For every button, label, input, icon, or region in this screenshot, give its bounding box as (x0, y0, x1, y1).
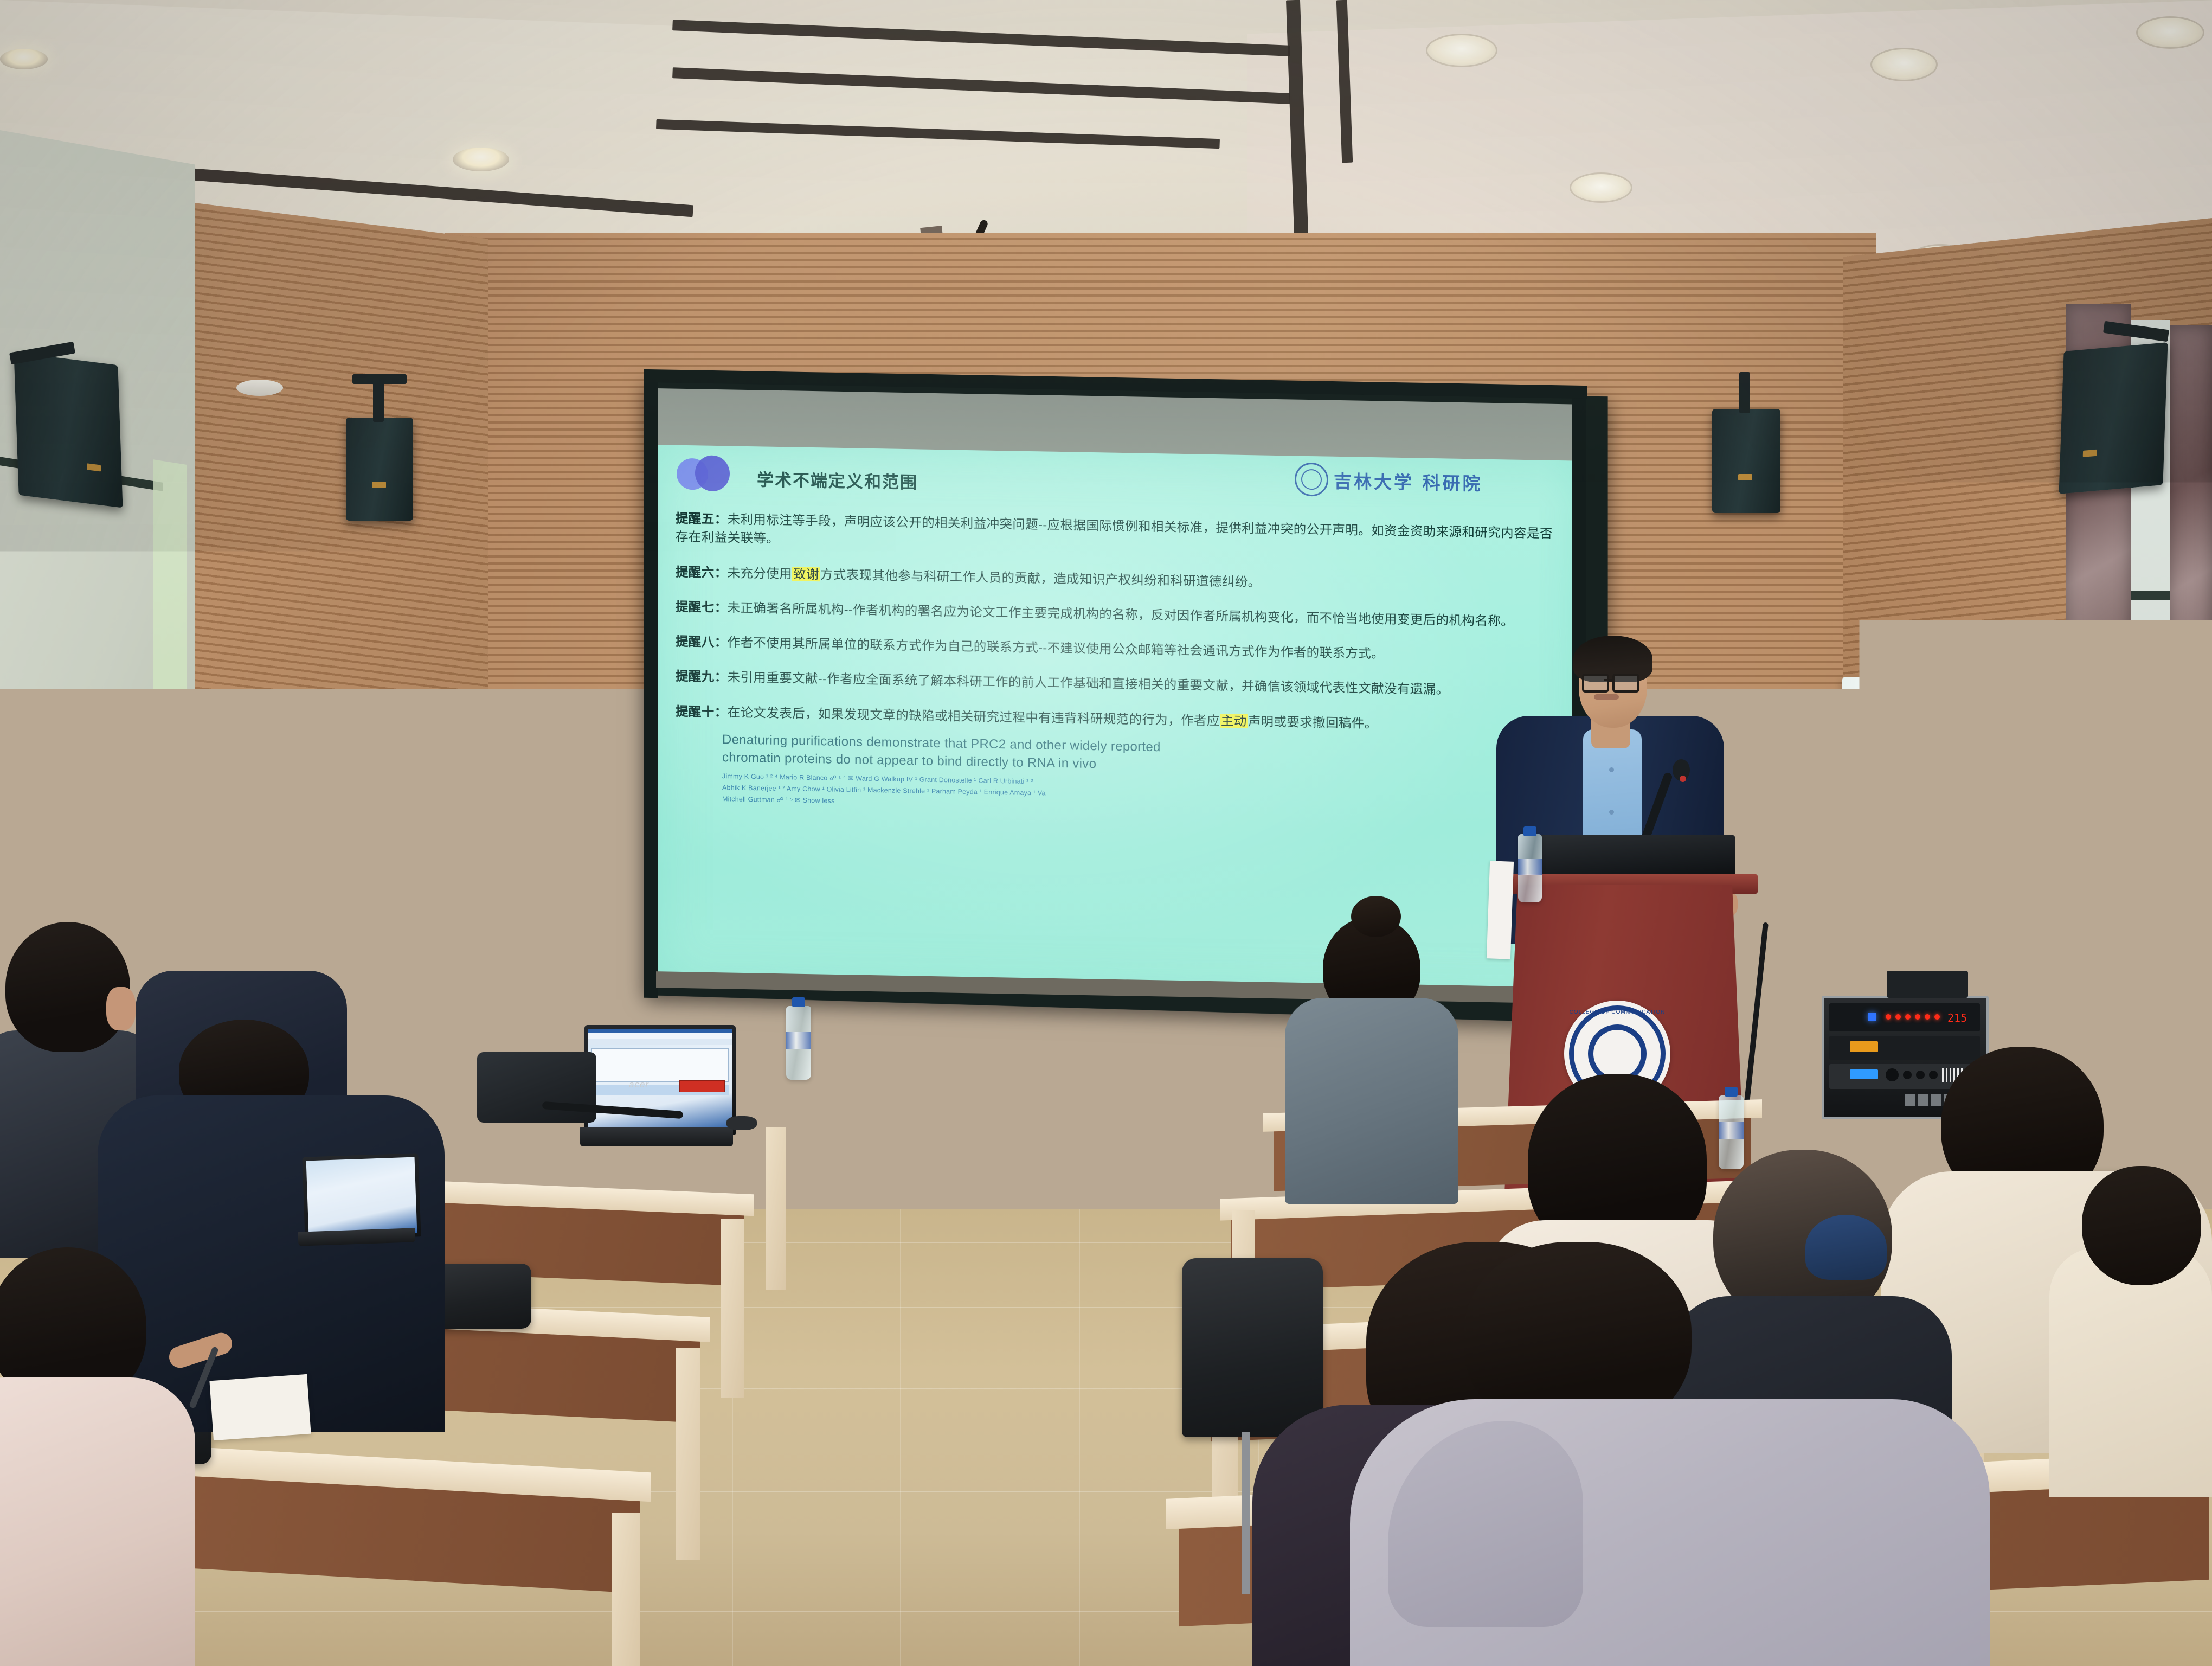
rack-unit-top[interactable]: 215 (1829, 1003, 1980, 1031)
speaker-mount-bracket (373, 380, 384, 422)
tip-text: 未利用标注等手段，声明应该公开的相关利益冲突问题--应根据国际惯例和相关标准，提… (676, 512, 1553, 546)
rack-display-value: 215 (1947, 1011, 1967, 1024)
chair (1182, 1258, 1323, 1437)
slide-paragraph-tip8: 提醒八：作者不使用其所属单位的联系方式作为自己的联系方式--不建议使用公众邮箱等… (676, 632, 1559, 667)
water-bottle (1719, 1095, 1744, 1169)
podium-laptop (1518, 835, 1735, 880)
tip-text: 未正确署名所属机构--作者机构的署名应为论文工作主要完成机构的名称，反对因作者所… (728, 600, 1514, 628)
podium-emblem-text: COLLEGE OF COMMUNICATION (1564, 1009, 1670, 1015)
laptop-bag (477, 1052, 596, 1123)
presenter-paper (1487, 861, 1514, 959)
desk-leg (676, 1348, 700, 1560)
audience-person-ear (106, 987, 136, 1030)
rack-top-device (1887, 971, 1968, 998)
water-bottle (346, 1009, 370, 1079)
water-bottle (1518, 834, 1542, 902)
downlight (2136, 16, 2204, 49)
downlight (1570, 172, 1632, 203)
presenter-mouth (1594, 694, 1619, 700)
slide-paragraph-tip10: 提醒十：在论文发表后，如果发现文章的缺陷或相关研究过程中有违背科研规范的行为，作… (676, 702, 1559, 736)
smoke-detector (236, 380, 283, 396)
tip-label: 提醒七： (676, 600, 728, 615)
rack-unit-mid[interactable] (1829, 1036, 1980, 1060)
downlight (1426, 34, 1497, 67)
eyeglasses-icon (1582, 674, 1609, 693)
wall-trim (2131, 591, 2170, 600)
audience-person-torso (1285, 998, 1458, 1204)
laptop-screen[interactable] (302, 1153, 421, 1240)
tip-text-before: 未充分使用 (728, 566, 793, 581)
wall-light-strip (153, 459, 187, 1040)
tip-text-after: 声明或要求撤回稿件。 (1248, 714, 1378, 731)
warning-icon (233, 727, 248, 740)
rack-knob[interactable] (1916, 1071, 1925, 1079)
slide-brand-text: 吉林大学 科研院 (1334, 467, 1483, 496)
tip-highlight: 致谢 (792, 567, 820, 581)
audience-person-torso (0, 1377, 195, 1666)
tip-text-after: 方式表现其他参与科研工作人员的贡献，造成知识产权纠纷和科研道德纠纷。 (820, 567, 1261, 589)
speaker-mount-bracket (1739, 372, 1750, 413)
audience-person-hair-bun (1351, 896, 1401, 937)
slide-paragraph-tip9: 提醒九：未引用重要文献--作者应全面系统了解本科研工作的前人工作基础和直接相关的… (676, 667, 1559, 701)
tip-label: 提醒八： (676, 635, 728, 650)
laptop-brand-label: acer (629, 1079, 649, 1090)
rack-knob[interactable] (1903, 1071, 1912, 1079)
ac-vent (1849, 690, 1895, 820)
desk-leg (766, 1127, 786, 1290)
warning-icon (1907, 947, 1918, 958)
speaker-mount-bracket (352, 374, 407, 384)
tip-text-before: 在论文发表后，如果发现文章的缺陷或相关研究过程中有违背科研规范的行为，作者应 (728, 705, 1220, 728)
lecture-hall-scene: 学术不端定义和范围 吉林大学 科研院 提醒五：未利用标注等手段，声明应该公开的相… (0, 0, 2212, 1666)
electrical-panel (216, 701, 268, 773)
wall-speaker-left-far (14, 353, 123, 508)
marble-pillar (2169, 325, 2212, 1139)
rack-knob[interactable] (1886, 1068, 1899, 1081)
notebook (209, 1374, 311, 1440)
laptop-sticker (679, 1080, 725, 1092)
tip-label: 提醒五： (676, 511, 728, 527)
downlight (453, 148, 509, 171)
slide-body: 提醒五：未利用标注等手段，声明应该公开的相关利益冲突问题--应根据国际惯例和相关… (676, 509, 1559, 819)
tip-highlight: 主动 (1220, 714, 1248, 728)
chair-post (1242, 1432, 1250, 1594)
slide-brand: 吉林大学 科研院 (1295, 463, 1483, 499)
laptop-keyboard[interactable] (580, 1127, 733, 1146)
ac-display (1847, 914, 1905, 936)
audience-person-torso (390, 1421, 618, 1666)
downlight (1870, 48, 1938, 81)
computer-mouse[interactable] (726, 1116, 757, 1130)
tip-label: 提醒六： (676, 565, 728, 580)
desk-leg (721, 1219, 744, 1398)
ac-label (1901, 807, 1920, 841)
slide-paragraph-tip5: 提醒五：未利用标注等手段，声明应该公开的相关利益冲突问题--应根据国际惯例和相关… (676, 509, 1559, 562)
projected-slide: 学术不端定义和范围 吉林大学 科研院 提醒五：未利用标注等手段，声明应该公开的相… (656, 445, 1581, 1003)
eyeglasses-bridge (1604, 679, 1615, 681)
eyeglasses-icon (1612, 674, 1639, 693)
air-conditioner-unit (1842, 677, 1937, 981)
tip-text: 未引用重要文献--作者应全面系统了解本科研工作的前人工作基础和直接相关的重要文献… (728, 670, 1449, 697)
laptop-screen[interactable] (584, 1025, 736, 1135)
tip-label: 提醒十： (676, 704, 728, 719)
decorative-circle-icon (695, 455, 730, 491)
audience-person-head (2082, 1166, 2201, 1285)
wall-speaker-right-near (1712, 409, 1780, 513)
tip-text: 作者不使用其所属单位的联系方式作为自己的联系方式--不建议使用公众邮箱等社会通讯… (728, 635, 1384, 661)
microphone-indicator (1680, 776, 1686, 782)
water-bottle (786, 1006, 811, 1080)
rack-blue-display (1850, 1069, 1878, 1079)
tip-label: 提醒九： (676, 669, 728, 684)
downlight (0, 49, 48, 69)
jilin-university-seal-icon (1295, 463, 1328, 497)
wall-speaker-right-far (2059, 342, 2168, 494)
audience-person-torso (2049, 1247, 2212, 1497)
slide-paragraph-tip6: 提醒六：未充分使用致谢方式表现其他参与科研工作人员的贡献，造成知识产权纠纷和科研… (676, 562, 1559, 597)
audience-person-cap (1805, 1215, 1887, 1280)
audience-person-head (5, 922, 130, 1052)
rack-knob[interactable] (1929, 1071, 1938, 1079)
rack-amber-display (1850, 1041, 1878, 1052)
embedded-paper-reference: Denaturing purifications demonstrate tha… (722, 731, 1559, 819)
wall-speaker-left-near (346, 418, 413, 521)
screen-edge-left (644, 380, 658, 998)
slide-paragraph-tip7: 提醒七：未正确署名所属机构--作者机构的署名应为论文工作主要完成机构的名称，反对… (676, 598, 1559, 632)
slide-title: 学术不端定义和范围 (757, 466, 918, 493)
